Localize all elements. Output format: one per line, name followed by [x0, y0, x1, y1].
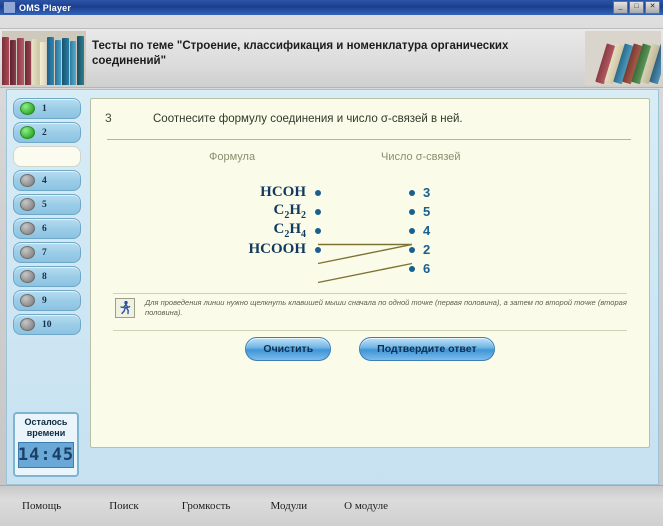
left-option-1[interactable]: HCOH	[121, 183, 321, 202]
header-band: Тесты по теме "Строение, классификация и…	[0, 28, 663, 88]
status-dot-unanswered-icon	[20, 294, 35, 307]
question-row: 3 Соотнесите формулу соединения и число …	[105, 111, 633, 125]
status-dot-unanswered-icon	[20, 246, 35, 259]
sidebar-item-6[interactable]: 6	[13, 218, 81, 239]
sidebar-item-9[interactable]: 9	[13, 290, 81, 311]
sidebar-item-label: 9	[42, 296, 47, 306]
app-icon	[3, 1, 16, 14]
confirm-answer-button[interactable]: Подтвердите ответ	[359, 337, 494, 361]
instruction-icon	[115, 298, 135, 318]
status-dot-answered-icon	[20, 102, 35, 115]
sidebar-item-label: 2	[42, 128, 47, 138]
right-connect-node[interactable]	[409, 247, 415, 253]
status-dot-unanswered-icon	[20, 174, 35, 187]
sidebar-item-3-current[interactable]	[13, 146, 81, 167]
left-option-2[interactable]: C2H2	[121, 202, 321, 221]
sidebar-item-8[interactable]: 8	[13, 266, 81, 287]
sidebar-item-2[interactable]: 2	[13, 122, 81, 143]
sidebar-item-label: 6	[42, 224, 47, 234]
window-controls: _ □ ✕	[613, 1, 660, 14]
menu-volume[interactable]: Громкость	[182, 500, 231, 512]
books-decoration-left	[2, 31, 86, 85]
sidebar-item-label: 8	[42, 272, 47, 282]
sidebar-item-label: 5	[42, 200, 47, 210]
sidebar-item-7[interactable]: 7	[13, 242, 81, 263]
action-buttons: Очистить Подтвердите ответ	[91, 337, 649, 361]
close-button[interactable]: ✕	[645, 1, 660, 14]
right-connect-node[interactable]	[409, 190, 415, 196]
timer-value: 14:45	[18, 447, 74, 464]
left-option-4[interactable]: HCOOH	[121, 240, 321, 259]
title-bar: OMS Player _ □ ✕	[0, 0, 663, 15]
question-divider	[107, 139, 631, 140]
right-column-header: Число σ-связей	[381, 151, 461, 163]
question-navigator: 1 2 4 5 6	[13, 98, 81, 338]
books-decoration-right	[585, 31, 661, 85]
page-title: Тесты по теме "Строение, классификация и…	[92, 39, 572, 69]
right-connect-node[interactable]	[409, 209, 415, 215]
time-remaining-panel: Осталось времени 14:45	[13, 412, 79, 477]
hint-text: Для проведения линии нужно щелкнуть клав…	[145, 298, 627, 318]
status-dot-unanswered-icon	[20, 318, 35, 331]
left-connect-node[interactable]	[315, 209, 321, 215]
right-option-4[interactable]: 2	[409, 240, 529, 259]
menu-help[interactable]: Помощь	[22, 500, 61, 512]
right-option-label: 5	[423, 204, 430, 219]
window-frame: Тесты по теме "Строение, классификация и…	[0, 15, 663, 510]
hint-bar: Для проведения линии нужно щелкнуть клав…	[113, 293, 627, 331]
sidebar-item-label: 4	[42, 176, 47, 186]
maximize-button[interactable]: □	[629, 1, 644, 14]
left-option-label: C2H4	[273, 221, 306, 240]
timer-label-line2: времени	[15, 428, 77, 439]
left-options-column: HCOH C2H2 C2H4 HCOOH	[121, 183, 321, 259]
right-option-label: 6	[423, 261, 430, 276]
left-column-header: Формула	[209, 151, 255, 163]
left-connect-node[interactable]	[315, 247, 321, 253]
sidebar-item-4[interactable]: 4	[13, 170, 81, 191]
sidebar-item-label: 10	[42, 320, 52, 330]
sidebar-item-label: 1	[42, 104, 47, 114]
timer-display: 14:45	[18, 442, 74, 468]
question-text: Соотнесите формулу соединения и число σ-…	[153, 113, 463, 125]
right-connect-node[interactable]	[409, 228, 415, 234]
left-option-label: HCOOH	[248, 241, 306, 258]
right-option-label: 3	[423, 185, 430, 200]
left-option-label: HCOH	[260, 184, 306, 201]
sidebar-item-10[interactable]: 10	[13, 314, 81, 335]
menu-search[interactable]: Поиск	[109, 500, 139, 512]
right-option-5[interactable]: 6	[409, 259, 529, 278]
right-option-label: 2	[423, 242, 430, 257]
right-option-3[interactable]: 4	[409, 221, 529, 240]
right-option-label: 4	[423, 223, 430, 238]
sidebar-item-1[interactable]: 1	[13, 98, 81, 119]
left-connect-node[interactable]	[315, 228, 321, 234]
question-number: 3	[105, 111, 153, 125]
left-connect-node[interactable]	[315, 190, 321, 196]
question-card: 3 Соотнесите формулу соединения и число …	[90, 98, 650, 448]
right-option-2[interactable]: 5	[409, 202, 529, 221]
status-dot-answered-icon	[20, 126, 35, 139]
left-option-3[interactable]: C2H4	[121, 221, 321, 240]
right-connect-node[interactable]	[409, 266, 415, 272]
sidebar-item-label: 7	[42, 248, 47, 258]
clear-button[interactable]: Очистить	[245, 337, 331, 361]
bottom-menu-bar: Помощь Поиск Громкость Модули О модуле	[0, 485, 663, 526]
status-dot-unanswered-icon	[20, 198, 35, 211]
menu-about[interactable]: О модуле	[344, 500, 388, 512]
right-option-1[interactable]: 3	[409, 183, 529, 202]
window-title: OMS Player	[19, 3, 71, 13]
timer-label-line1: Осталось	[15, 417, 77, 428]
application-window: OMS Player _ □ ✕	[0, 0, 663, 510]
status-dot-unanswered-icon	[20, 222, 35, 235]
main-panel: 1 2 4 5 6	[6, 89, 659, 485]
minimize-button[interactable]: _	[613, 1, 628, 14]
sidebar-item-5[interactable]: 5	[13, 194, 81, 215]
left-option-label: C2H2	[273, 202, 306, 221]
right-options-column: 3 5 4 2	[409, 183, 529, 278]
status-dot-unanswered-icon	[20, 270, 35, 283]
menu-modules[interactable]: Модули	[270, 500, 307, 512]
